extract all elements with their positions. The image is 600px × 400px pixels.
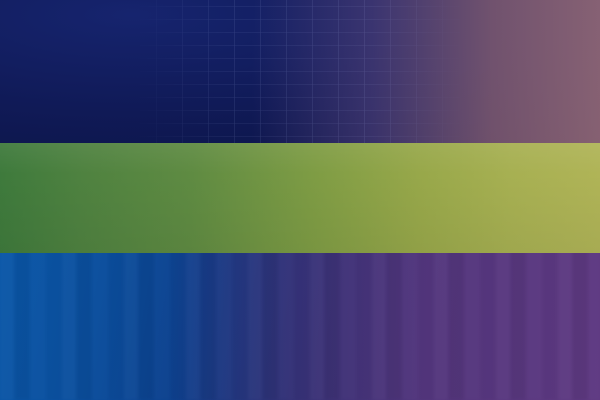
headline-text-block	[0, 143, 600, 253]
top-grid-texture	[0, 0, 600, 150]
news-thumbnail-image	[0, 0, 600, 400]
gold-coin-pile	[18, 336, 190, 400]
